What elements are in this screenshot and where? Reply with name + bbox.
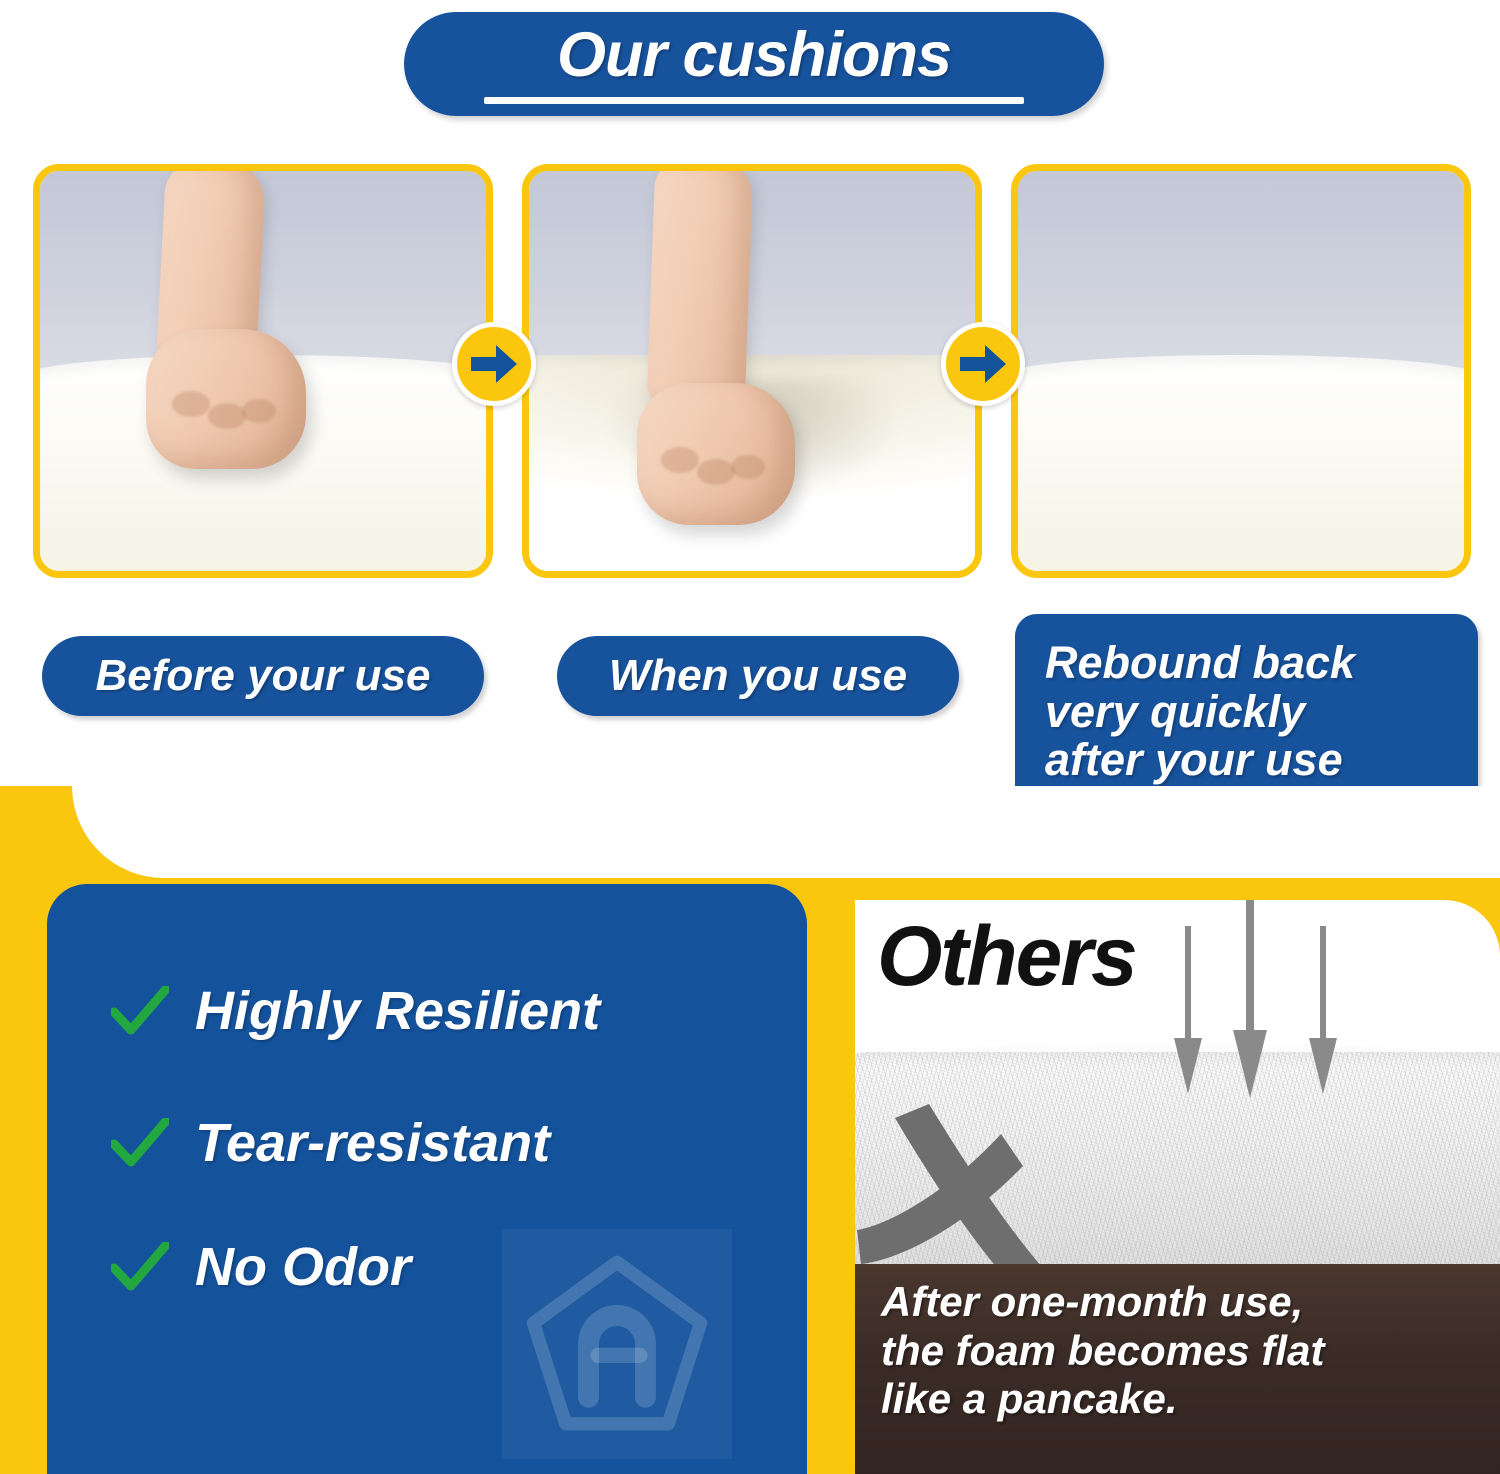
demo-panel-during xyxy=(522,164,982,578)
title-underline xyxy=(484,97,1024,104)
photo-before xyxy=(40,171,486,571)
step-label-before: Before your use xyxy=(42,636,484,716)
others-caption: After one-month use, the foam becomes fl… xyxy=(881,1278,1486,1424)
knuckle-shape xyxy=(172,391,210,417)
knuckle-shape xyxy=(697,459,735,485)
check-icon xyxy=(109,1236,171,1298)
page-title: Our cushions xyxy=(557,24,951,87)
step-label-text: Before your use xyxy=(96,652,431,700)
arrow-down-icon xyxy=(1306,926,1340,1101)
feature-label: Highly Resilient xyxy=(195,980,600,1042)
others-comparison-card: Others xyxy=(855,900,1500,1474)
demo-panel-before xyxy=(33,164,493,578)
knuckle-shape xyxy=(731,455,765,479)
photo-background-wall xyxy=(529,171,975,371)
features-card: Highly Resilient Tear-resistant No Odor xyxy=(47,884,807,1474)
step-label-text: When you use xyxy=(609,652,907,700)
knuckle-shape xyxy=(661,447,699,473)
knuckle-shape xyxy=(242,399,276,423)
arrow-right-icon xyxy=(452,322,536,406)
demo-panel-after xyxy=(1011,164,1471,578)
others-caption-band: After one-month use, the foam becomes fl… xyxy=(855,1264,1500,1474)
check-icon xyxy=(109,980,171,1042)
forearm-shape xyxy=(647,171,754,411)
feature-item: No Odor xyxy=(109,1236,411,1298)
arrow-down-icon xyxy=(1171,926,1205,1101)
fist-shape xyxy=(146,329,306,469)
photo-during xyxy=(529,171,975,571)
arrow-down-icon xyxy=(1230,900,1270,1106)
arrow-right-icon xyxy=(941,322,1025,406)
foam-surface-restored xyxy=(1018,355,1464,571)
check-icon xyxy=(109,1112,171,1174)
knuckle-shape xyxy=(208,403,246,429)
feature-item: Tear-resistant xyxy=(109,1112,550,1174)
photo-background-wall xyxy=(1018,171,1464,371)
step-label-after: Rebound back very quickly after your use xyxy=(1015,614,1478,810)
feature-label: No Odor xyxy=(195,1236,411,1298)
feature-item: Highly Resilient xyxy=(109,980,600,1042)
photo-after xyxy=(1018,171,1464,571)
yellow-section-notch xyxy=(72,786,1500,878)
pentagon-logo-icon xyxy=(502,1229,732,1459)
feature-label: Tear-resistant xyxy=(195,1112,550,1174)
others-title: Others xyxy=(877,914,1136,998)
fist-shape xyxy=(637,383,795,525)
step-label-during: When you use xyxy=(557,636,959,716)
infographic-page: Our cushions xyxy=(0,0,1500,1474)
page-title-pill: Our cushions xyxy=(404,12,1104,116)
step-label-text: Rebound back very quickly after your use xyxy=(1045,639,1355,785)
